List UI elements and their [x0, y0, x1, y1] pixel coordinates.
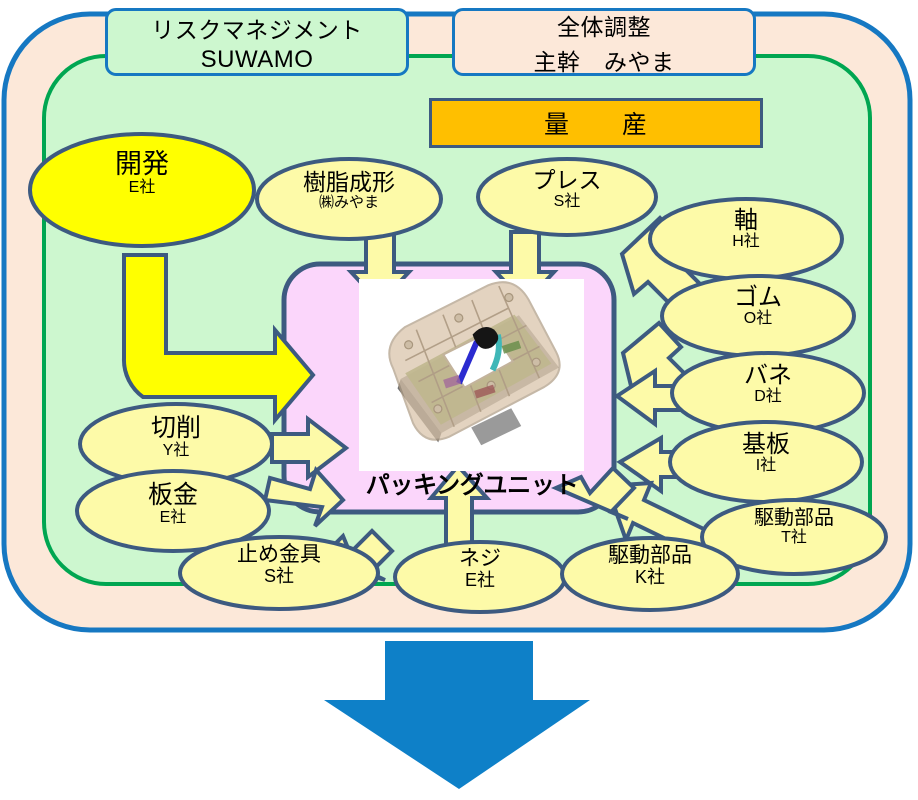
mass-production-bar[interactable]: 量 産: [429, 98, 763, 148]
ellipse-screw: [395, 542, 565, 612]
diagram-canvas: リスクマネジメント SUWAMO 全体調整 主幹 みやま 量 産 開発 E社 樹…: [0, 0, 918, 800]
ellipse-drive-parts-k: [562, 538, 738, 610]
packing-unit-photo: [359, 279, 584, 471]
mass-production-label: 量 産: [544, 105, 648, 141]
chip-overall-coordination[interactable]: 全体調整 主幹 みやま: [452, 8, 756, 76]
chip-coord-line1: 全体調整: [557, 8, 651, 42]
chip-risk-line2: SUWAMO: [201, 46, 314, 74]
ellipse-board: [670, 422, 862, 502]
ellipse-shaft: [650, 199, 842, 279]
ellipse-clamp-fitting: [180, 537, 378, 609]
chip-risk-line1: リスクマネジメント: [151, 11, 363, 45]
chip-coord-line2: 主幹 みやま: [534, 43, 675, 77]
ellipse-rubber: [662, 276, 854, 356]
ellipse-resin-molding: [257, 159, 441, 239]
chip-risk-management[interactable]: リスクマネジメント SUWAMO: [105, 8, 409, 76]
ellipse-development: [30, 134, 254, 246]
process-down-arrow: [324, 641, 590, 789]
ellipse-press: [478, 159, 656, 235]
